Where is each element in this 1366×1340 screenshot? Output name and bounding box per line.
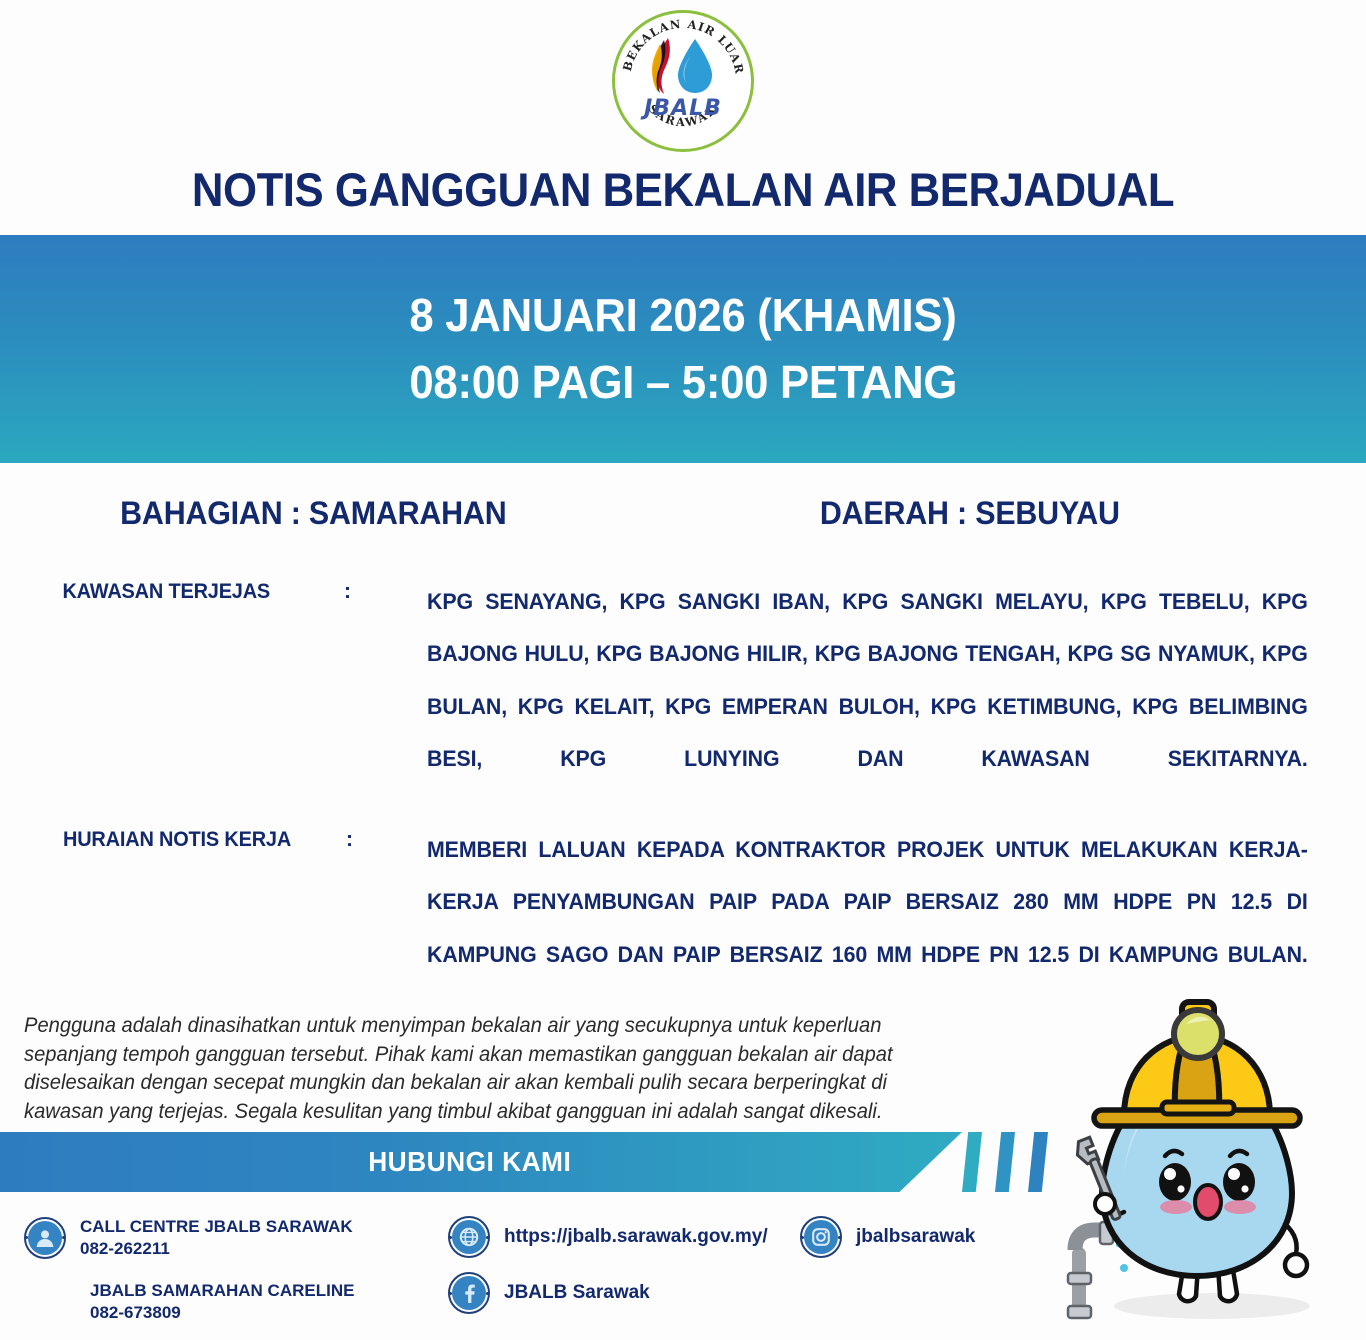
contact-facebook[interactable]: JBALB Sarawak [448,1272,650,1314]
facebook-icon [448,1272,490,1314]
work-description-label: HURAIAN NOTIS KERJA [63,828,291,852]
careline-text: JBALB SAMARAHAN CARELINE 082-673809 [90,1280,354,1324]
region-row: BAHAGIAN : SAMARAHAN DAERAH : SEBUYAU [0,495,1366,539]
contact-careline[interactable]: JBALB SAMARAHAN CARELINE 082-673809 [90,1280,354,1324]
instagram-handle: jbalbsarawak [856,1225,975,1249]
page-title: NOTIS GANGGUAN BEKALAN AIR BERJADUAL [48,162,1318,217]
logo-water-drop-icon [674,37,716,95]
affected-areas-colon: : [344,580,351,604]
division-label: BAHAGIAN : SAMARAHAN [120,495,506,532]
logo-wordmark: JBALB [612,96,754,121]
disclaimer-text: Pengguna adalah dinasihatkan untuk menyi… [24,1012,926,1126]
careline-number: 082-673809 [90,1302,354,1324]
work-description-colon: : [346,828,353,852]
contact-instagram[interactable]: jbalbsarawak [800,1216,975,1258]
person-icon [24,1217,66,1259]
water-droplet-worker-mascot [1032,988,1362,1340]
hard-hat-icon [1094,1002,1300,1126]
contact-banner-label: HUBUNGI KAMI [368,1146,571,1178]
careline-name: JBALB SAMARAHAN CARELINE [90,1280,354,1302]
affected-areas-body: KPG SENAYANG, KPG SANGKI IBAN, KPG SANGK… [427,576,1308,838]
contact-call-centre[interactable]: CALL CENTRE JBALB SARAWAK 082-262211 [24,1216,353,1260]
contact-website[interactable]: https://jbalb.sarawak.gov.my/ [448,1216,768,1258]
call-centre-number: 082-262211 [80,1238,353,1260]
globe-icon [448,1216,490,1258]
jbalb-logo: JABATAN BEKALAN AIR LUAR BANDAR SARAWAK … [612,10,754,152]
call-centre-text: CALL CENTRE JBALB SARAWAK 082-262211 [80,1216,353,1260]
facebook-name: JBALB Sarawak [504,1281,650,1305]
instagram-icon [800,1216,842,1258]
district-label: DAERAH : SEBUYAU [820,495,1120,532]
notice-poster: JABATAN BEKALAN AIR LUAR BANDAR SARAWAK … [0,0,1366,1340]
notice-time: 08:00 PAGI – 5:00 PETANG [409,349,957,416]
date-time-band: 8 JANUARI 2026 (KHAMIS) 08:00 PAGI – 5:0… [0,235,1366,463]
call-centre-name: CALL CENTRE JBALB SARAWAK [80,1216,353,1238]
notice-date: 8 JANUARI 2026 (KHAMIS) [409,282,956,349]
banner-stripe-1 [962,1132,982,1192]
affected-areas-label: KAWASAN TERJEJAS [62,580,270,604]
website-url: https://jbalb.sarawak.gov.my/ [504,1225,768,1249]
banner-stripe-2 [995,1132,1015,1192]
contact-banner: HUBUNGI KAMI [0,1132,962,1192]
logo-flame-icon [650,36,676,96]
